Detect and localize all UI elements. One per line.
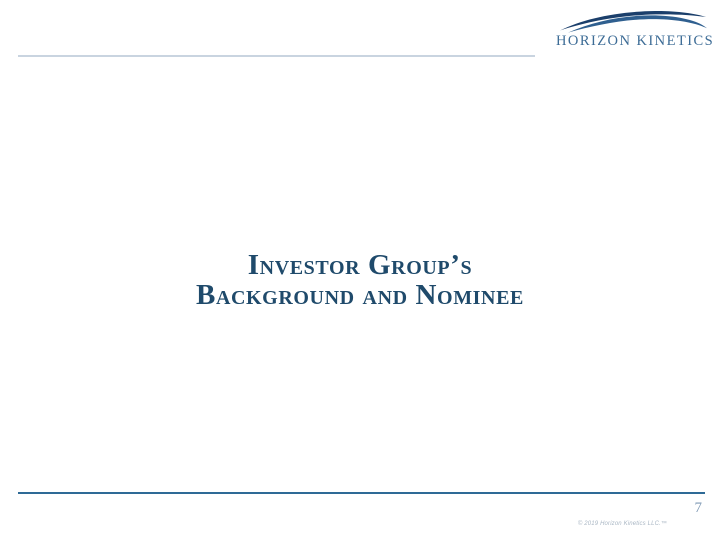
horizon-kinetics-swoosh-icon [556, 8, 708, 34]
page-title: Investor Group’s Background and Nominee [0, 250, 720, 310]
header-divider [18, 55, 535, 57]
footer-divider [18, 492, 705, 494]
horizon-kinetics-logo: HORIZON KINETICS [556, 8, 708, 54]
slide-canvas: HORIZON KINETICS Investor Group’s Backgr… [0, 0, 720, 540]
copyright-notice: © 2019 Horizon Kinetics LLC.™ [540, 521, 705, 527]
logo-wordmark: HORIZON KINETICS [556, 33, 708, 50]
page-title-line-2: Background and Nominee [0, 280, 720, 310]
page-title-line-1: Investor Group’s [0, 250, 720, 280]
page-number: 7 [660, 500, 702, 517]
